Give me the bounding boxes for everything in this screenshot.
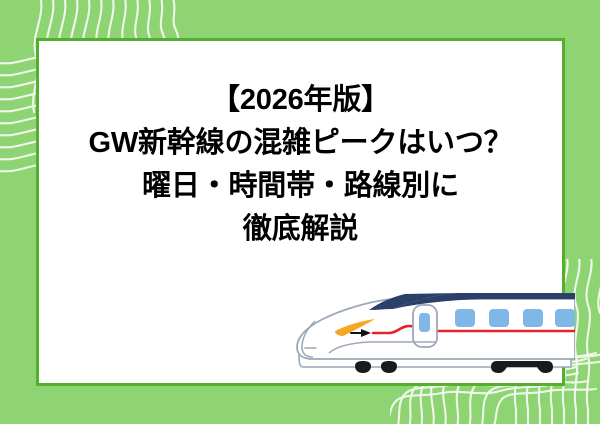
- train-window: [555, 309, 575, 327]
- eyecatch-canvas: 【2026年版】 GW新幹線の混雑ピークはいつ？ 曜日・時間帯・路線別に 徹底解…: [0, 0, 600, 424]
- title-line-1: 【2026年版】: [33, 79, 568, 122]
- train-wheel: [355, 361, 371, 373]
- page-title: 【2026年版】 GW新幹線の混雑ピークはいつ？ 曜日・時間帯・路線別に 徹底解…: [33, 79, 568, 251]
- shinkansen-train-icon: [285, 291, 575, 386]
- train-window: [489, 309, 509, 327]
- train-door-window: [419, 313, 430, 332]
- title-line-2: GW新幹線の混雑ピークはいつ？: [33, 122, 568, 165]
- title-line-3: 曜日・時間帯・路線別に: [33, 165, 568, 208]
- content-card: 【2026年版】 GW新幹線の混雑ピークはいつ？ 曜日・時間帯・路線別に 徹底解…: [36, 38, 565, 386]
- train-window: [455, 309, 475, 327]
- train-wheel: [381, 361, 397, 373]
- train-rear-bogie: [491, 361, 553, 373]
- train-window: [523, 309, 543, 327]
- title-line-4: 徹底解説: [33, 208, 568, 251]
